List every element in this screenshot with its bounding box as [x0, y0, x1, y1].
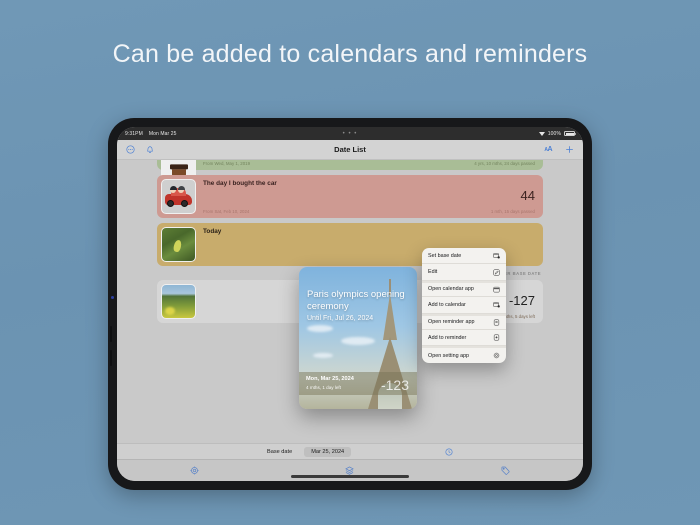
- menu-item-set-base-date[interactable]: Set base date: [422, 248, 506, 264]
- menu-item-label: Open reminder app: [428, 319, 493, 325]
- menu-item-edit[interactable]: Edit: [422, 264, 506, 280]
- menu-item-label: Edit: [428, 269, 493, 275]
- cloud-decoration: [313, 353, 333, 358]
- nav-bar: Date List AA: [117, 140, 583, 160]
- base-date-bar: Base date Mar 25, 2024: [117, 443, 583, 459]
- preview-title: Paris olympics opening ceremony: [307, 289, 407, 313]
- menu-item-label: Add to reminder: [428, 335, 493, 341]
- row-count: -127: [509, 293, 535, 308]
- row-from-date: From Wed, May 1, 2019: [203, 161, 250, 166]
- preview-until-date: Until Fri, Jul 26, 2024: [307, 315, 407, 322]
- row-from-date: From Sat, Feb 10, 2024: [203, 209, 249, 214]
- preview-footer-count: -123: [381, 377, 409, 393]
- nav-title: Date List: [117, 145, 583, 154]
- wifi-icon: [539, 131, 545, 136]
- battery-icon: [564, 131, 575, 136]
- menu-item-label: Open calendar app: [428, 286, 493, 292]
- status-bar: 9:31PM Mon Mar 25 • • • 100%: [117, 127, 583, 140]
- device-side-button-2[interactable]: [110, 350, 112, 366]
- row-elapsed: 4 yrs, 10 mths, 24 days passed: [474, 161, 535, 166]
- tablet-device-frame: 9:31PM Mon Mar 25 • • • 100%: [108, 118, 592, 490]
- menu-item-label: Open setting app: [428, 353, 493, 359]
- pencil-square-icon: [493, 269, 500, 276]
- base-date-label: Base date: [267, 449, 292, 455]
- preview-footer: Mon, Mar 25, 2024 4 mths, 1 day left -12…: [299, 372, 417, 395]
- list-item[interactable]: From Wed, May 1, 2019 4 yrs, 10 mths, 24…: [157, 160, 543, 170]
- menu-item-label: Set base date: [428, 253, 493, 259]
- battery-percent: 100%: [548, 131, 561, 137]
- gear-icon: [493, 352, 500, 359]
- device-indicator-dot: [111, 296, 114, 299]
- row-elapsed: 1 mth, 15 days passed: [491, 209, 535, 214]
- menu-item-add-to-calendar[interactable]: Add to calendar: [422, 297, 506, 313]
- device-side-button-1[interactable]: [110, 326, 112, 342]
- context-menu[interactable]: Set base date Edit Open: [422, 248, 506, 363]
- row-thumbnail: [161, 179, 196, 214]
- preview-card[interactable]: Paris olympics opening ceremony Until Fr…: [299, 267, 417, 409]
- calendar-badge-icon: [493, 252, 500, 259]
- calendar-badge-plus-icon: [493, 301, 500, 308]
- cloud-decoration: [307, 325, 333, 332]
- calendar-icon: [493, 286, 500, 293]
- row-title: The day I bought the car: [203, 180, 535, 187]
- reminder-plus-icon: [493, 334, 500, 341]
- device-screen: 9:31PM Mon Mar 25 • • • 100%: [117, 127, 583, 481]
- row-title: Today: [203, 228, 535, 235]
- menu-item-open-reminder-app[interactable]: Open reminder app: [422, 314, 506, 330]
- menu-item-label: Add to calendar: [428, 302, 493, 308]
- tab-tags[interactable]: [428, 466, 583, 475]
- menu-item-open-calendar-app[interactable]: Open calendar app: [422, 281, 506, 297]
- row-count: 44: [521, 188, 535, 203]
- menu-item-open-setting-app[interactable]: Open setting app: [422, 346, 506, 362]
- menu-item-add-to-reminder[interactable]: Add to reminder: [422, 330, 506, 346]
- page-title: Can be added to calendars and reminders: [0, 40, 700, 69]
- reminder-icon: [493, 319, 500, 326]
- status-dots: • • •: [117, 131, 583, 137]
- base-date-value[interactable]: Mar 25, 2024: [304, 447, 351, 457]
- tab-settings[interactable]: [117, 466, 272, 475]
- home-indicator: [291, 475, 409, 478]
- row-thumbnail: [161, 227, 196, 262]
- tab-date-list[interactable]: [272, 466, 427, 475]
- clock-history-icon[interactable]: [445, 443, 453, 461]
- list-item[interactable]: The day I bought the car 44 From Sat, Fe…: [157, 175, 543, 218]
- row-thumbnail: [161, 284, 196, 319]
